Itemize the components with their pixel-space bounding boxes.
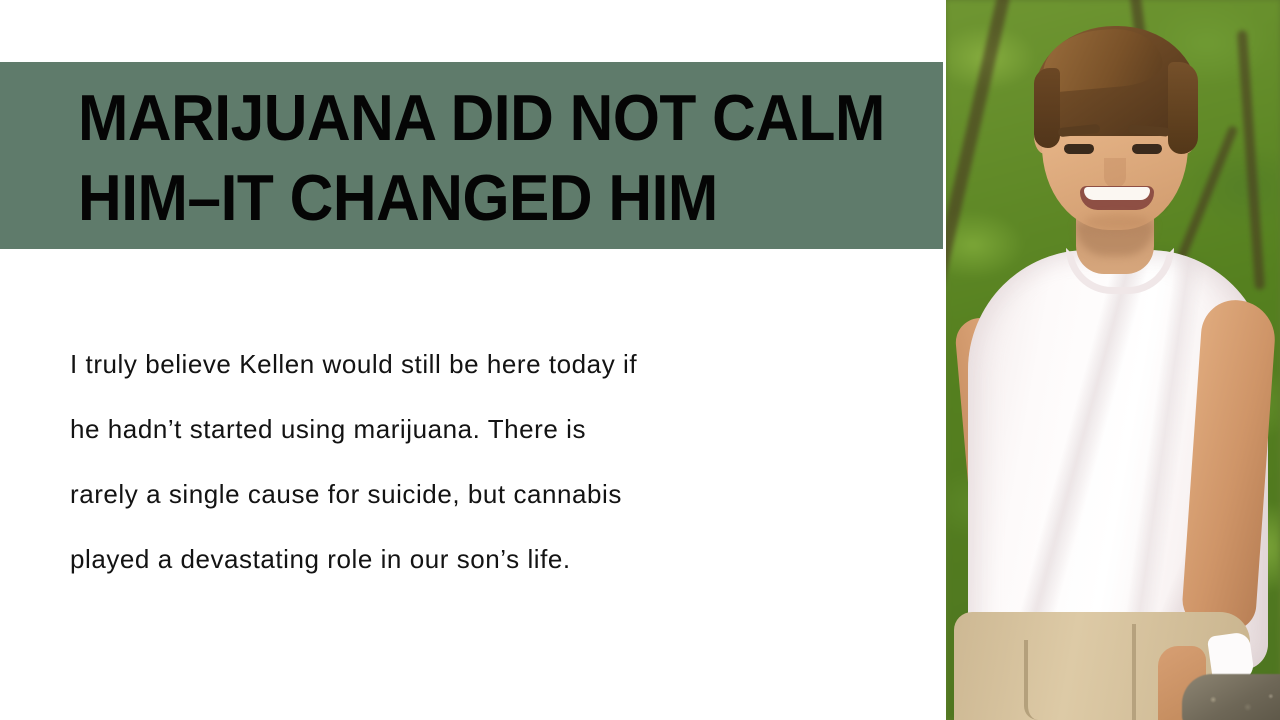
teeth xyxy=(1084,187,1150,200)
title-line-2: HIM–IT CHANGED HIM xyxy=(78,158,882,238)
left-eye xyxy=(1064,144,1094,154)
rock-texture xyxy=(1194,686,1280,720)
quote-line-1: I truly believe Kellen would still be he… xyxy=(70,332,870,397)
right-eye xyxy=(1132,144,1162,154)
quote-line-4: played a devastating role in our son’s l… xyxy=(70,527,870,592)
shorts-seam xyxy=(1132,624,1136,720)
quote-line-3: rarely a single cause for suicide, but c… xyxy=(70,462,870,527)
chin-shadow xyxy=(1084,214,1150,230)
slide-canvas: MARIJUANA DID NOT CALM HIM–IT CHANGED HI… xyxy=(0,0,1280,720)
title-banner: MARIJUANA DID NOT CALM HIM–IT CHANGED HI… xyxy=(0,62,943,249)
portrait-photo xyxy=(946,0,1280,720)
quote-block: I truly believe Kellen would still be he… xyxy=(70,332,870,592)
nose xyxy=(1104,158,1126,188)
shorts-pocket xyxy=(1024,640,1098,720)
hair-left-side xyxy=(1034,68,1060,148)
person-figure xyxy=(946,0,1280,720)
smiling-mouth xyxy=(1080,186,1154,210)
quote-line-2: he hadn’t started using marijuana. There… xyxy=(70,397,870,462)
hair-right-side xyxy=(1168,62,1198,154)
title-line-1: MARIJUANA DID NOT CALM xyxy=(78,78,882,158)
